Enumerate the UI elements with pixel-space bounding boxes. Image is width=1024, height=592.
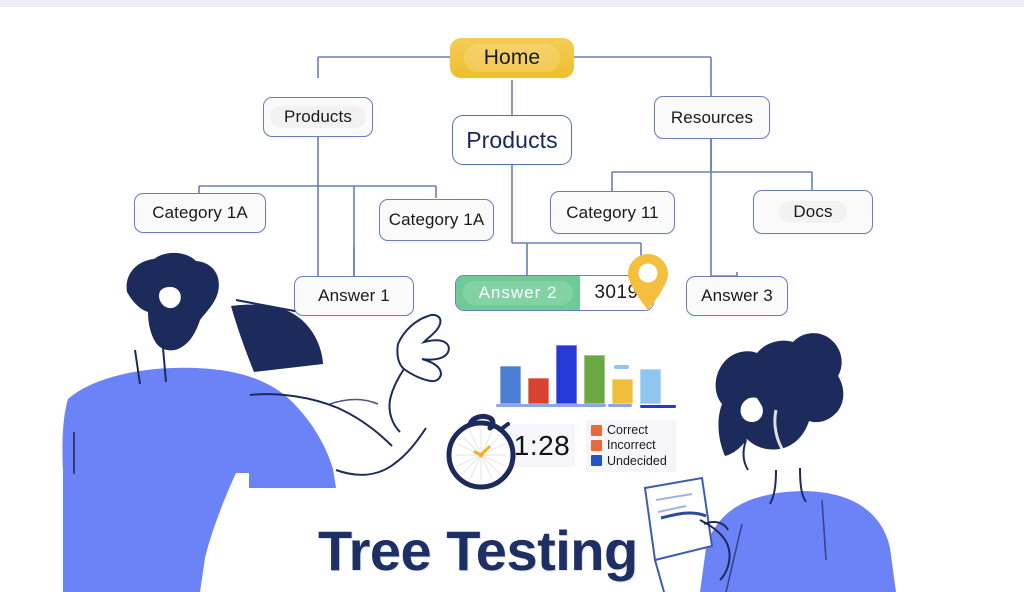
bar-chart-bar-fill: [640, 369, 661, 404]
node-answer-3-label: Answer 3: [701, 286, 773, 306]
bar-chart-bar: [500, 366, 521, 404]
page-title: Tree Testing: [318, 518, 638, 583]
map-pin-icon[interactable]: [626, 252, 670, 314]
node-home-label: Home: [464, 44, 560, 72]
bar-chart-bar-fill: [556, 345, 577, 404]
bar-chart-bar: [528, 378, 549, 404]
bar-chart-bar-fill: [500, 366, 521, 404]
tree-testing-illustration: Home Products Products Resources Categor…: [0, 0, 1024, 592]
bar-chart-bar-fill: [584, 355, 605, 405]
node-products-left[interactable]: Products: [263, 97, 373, 137]
node-answer-2-bar: Answer 2: [456, 276, 580, 310]
node-answer-2-label: Answer 2: [463, 281, 574, 305]
node-home[interactable]: Home: [450, 38, 574, 78]
bar-chart-baseline-right: [640, 405, 676, 408]
bar-chart-baseline-mid: [608, 404, 632, 407]
node-category-1a-mid[interactable]: Category 1A: [379, 199, 494, 241]
node-docs-label: Docs: [779, 201, 846, 223]
bar-chart-bars: [500, 338, 661, 404]
node-products-focus-label: Products: [466, 127, 558, 154]
bar-chart-bar: [612, 379, 633, 404]
node-category-1a-left-label: Category 1A: [152, 203, 248, 223]
bar-chart-marker-a: [614, 365, 629, 369]
node-answer-3[interactable]: Answer 3: [686, 276, 788, 316]
node-resources[interactable]: Resources: [654, 96, 770, 139]
node-category-11-label: Category 11: [566, 203, 658, 223]
node-category-1a-left[interactable]: Category 1A: [134, 193, 266, 233]
person-right-illustration: [645, 333, 896, 592]
bar-chart-bar: [556, 345, 577, 404]
node-resources-label: Resources: [671, 108, 753, 128]
bar-chart-bar-fill: [612, 379, 633, 404]
node-products-focus[interactable]: Products: [452, 115, 572, 165]
node-products-left-label: Products: [270, 106, 366, 128]
node-answer-2[interactable]: Answer 2 3019: [455, 275, 654, 311]
bar-chart-bar: [584, 355, 605, 405]
node-category-11[interactable]: Category 11: [550, 191, 675, 234]
node-category-1a-mid-label: Category 1A: [389, 210, 485, 230]
node-docs[interactable]: Docs: [753, 190, 873, 234]
bar-chart-bar: [640, 369, 661, 404]
node-answer-1-label: Answer 1: [318, 286, 390, 306]
bar-chart-bar-fill: [528, 378, 549, 404]
bar-chart: [492, 338, 677, 410]
stopwatch-icon: [449, 416, 513, 487]
bar-chart-baseline-left: [496, 404, 606, 407]
node-answer-1[interactable]: Answer 1: [294, 276, 414, 316]
